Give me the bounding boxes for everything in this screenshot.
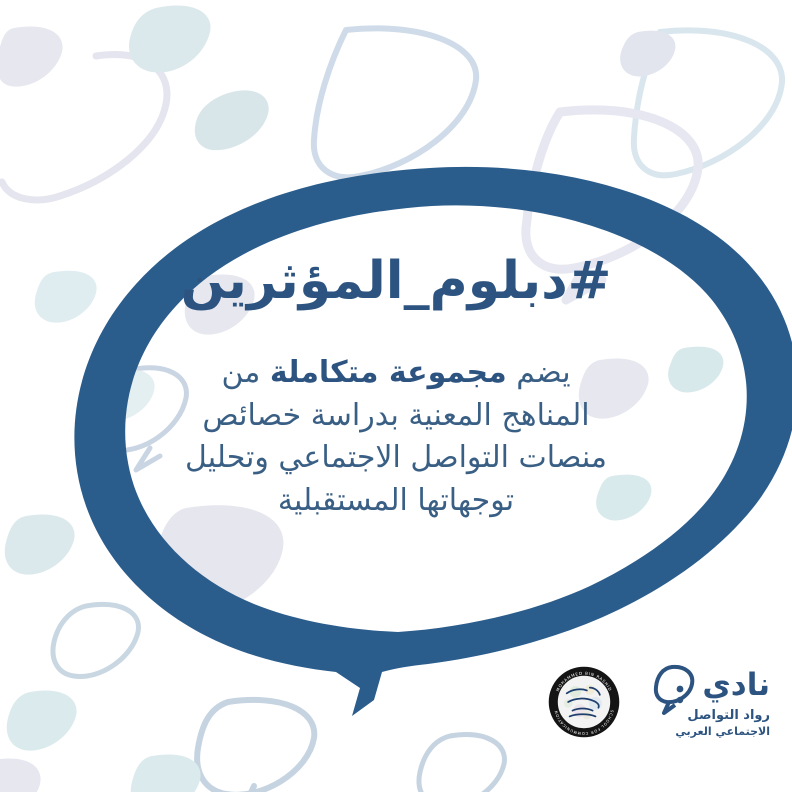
body-text-run: المناهج المعنية بدراسة خصائص <box>202 398 589 433</box>
headline-container: #دبلوم_المؤثرين <box>0 252 792 312</box>
poster-canvas: #دبلوم_المؤثرين يضم مجموعة متكاملة من ال… <box>0 0 792 792</box>
nadi-subtitle-line2: الاجتماعي العربي <box>675 726 770 737</box>
body-text-run: منصات التواصل الاجتماعي وتحليل <box>185 440 607 475</box>
body-copy-container: يضم مجموعة متكاملة من المناهج المعنية بد… <box>0 352 792 522</box>
mbr-school-seal-logo: MOHAMMED BIN RASHID SCHOOL FOR COMMUNICA… <box>548 666 620 738</box>
nadi-logo: نادي رواد التواصل الاجتماعي العربي <box>650 662 770 744</box>
hashtag-headline: #دبلوم_المؤثرين <box>181 252 612 312</box>
body-line: توجهاتها المستقبلية <box>0 480 792 523</box>
logo-bar: MOHAMMED BIN RASHID SCHOOL FOR COMMUNICA… <box>0 662 792 754</box>
body-line: منصات التواصل الاجتماعي وتحليل <box>0 437 792 480</box>
body-text-run: من <box>221 355 269 390</box>
body-text-run: توجهاتها المستقبلية <box>278 483 514 518</box>
body-text-emphasis: مجموعة متكاملة <box>270 355 507 390</box>
body-text-run: يضم <box>507 355 571 390</box>
nadi-wordmark: نادي <box>702 670 770 701</box>
body-line: المناهج المعنية بدراسة خصائص <box>0 395 792 438</box>
nadi-subtitle-line1: رواد التواصل <box>687 709 770 722</box>
body-line: يضم مجموعة متكاملة من <box>0 352 792 395</box>
